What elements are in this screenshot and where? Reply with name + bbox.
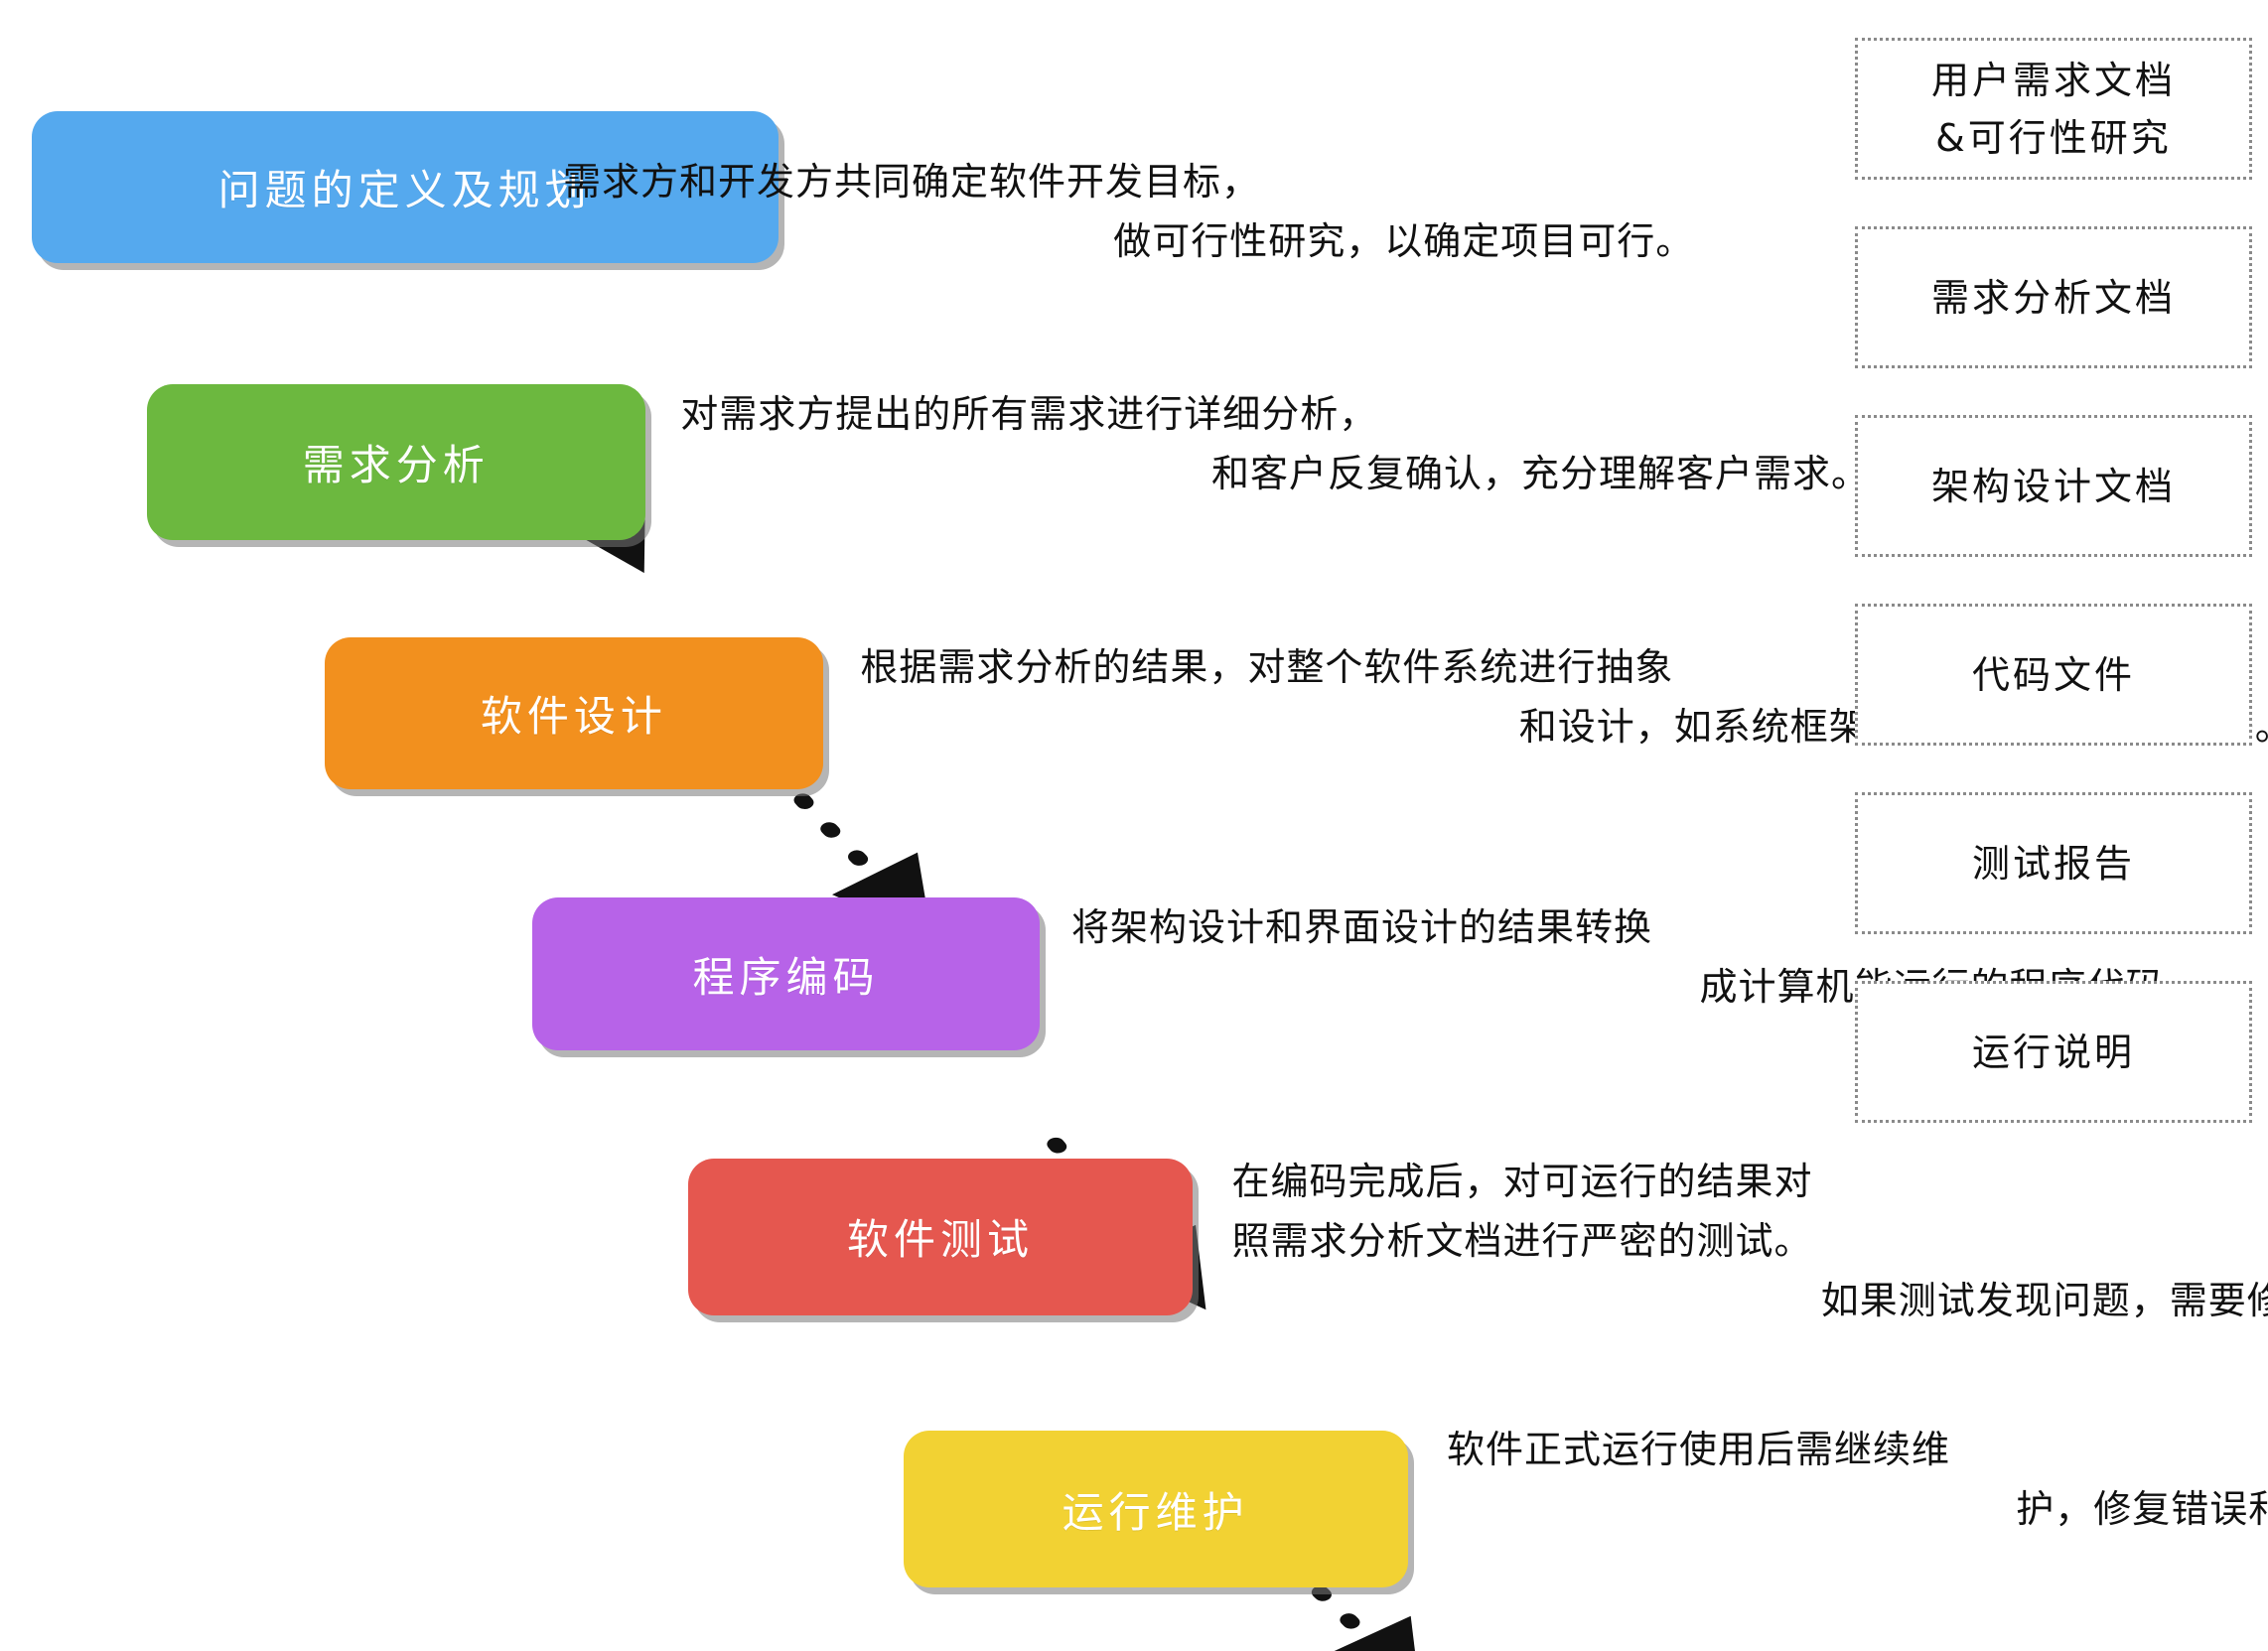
- stage-label: 程序编码: [693, 944, 880, 1005]
- artifact-box-user-requirements[interactable]: 用户需求文档 &可行性研究: [1855, 38, 2252, 180]
- stage-description-operation-maintenance: 软件正式运行使用后需继续维 护，修复错误和增加功能。 交付时需要提供使用说明文档…: [1447, 1420, 2268, 1598]
- stage-label: 需求分析: [303, 432, 490, 492]
- stage-label: 软件设计: [481, 683, 667, 744]
- artifact-line: 架构设计文档: [1931, 458, 2176, 515]
- connector-2-3: [779, 770, 904, 905]
- stage-description-software-testing: 在编码完成后，对可运行的结果对 照需求分析文档进行严密的测试。 如果测试发现问题…: [1231, 1152, 2268, 1330]
- artifact-line: 测试报告: [1972, 835, 2135, 893]
- stage-node-operation-maintenance[interactable]: 运行维护: [904, 1431, 1408, 1587]
- desc-line: 如果测试发现问题，需要修复。: [1231, 1271, 2268, 1330]
- stage-node-requirements-analysis[interactable]: 需求分析: [147, 384, 645, 541]
- stage-label: 运行维护: [1063, 1479, 1249, 1540]
- artifact-line: &可行性研究: [1935, 109, 2172, 167]
- stage-node-software-design[interactable]: 软件设计: [325, 637, 823, 789]
- artifact-line: 用户需求文档: [1931, 52, 2176, 109]
- artifact-box-architecture-doc[interactable]: 架构设计文档: [1855, 415, 2252, 557]
- desc-line: 在编码完成后，对可运行的结果对: [1231, 1152, 2268, 1211]
- desc-line: 交付时需要提供使用说明文档。: [1447, 1539, 2268, 1598]
- artifact-line: 运行说明: [1972, 1024, 2135, 1081]
- flowchart-canvas: 问题的定义及规划 需求方和开发方共同确定软件开发目标， 做可行性研究，以确定项目…: [0, 0, 2268, 1651]
- stage-label: 问题的定义及规划: [218, 157, 592, 217]
- desc-line: 软件正式运行使用后需继续维: [1447, 1420, 2268, 1479]
- stage-node-program-coding[interactable]: 程序编码: [532, 897, 1041, 1049]
- stage-node-software-testing[interactable]: 软件测试: [688, 1159, 1193, 1315]
- artifact-box-code-files[interactable]: 代码文件: [1855, 604, 2252, 746]
- artifact-box-operation-manual[interactable]: 运行说明: [1855, 981, 2252, 1123]
- artifact-line: 代码文件: [1972, 646, 2135, 704]
- artifact-box-requirements-doc[interactable]: 需求分析文档: [1855, 226, 2252, 368]
- artifact-line: 需求分析文档: [1931, 269, 2176, 327]
- desc-line: 护，修复错误和增加功能。: [1447, 1479, 2268, 1539]
- desc-line: 照需求分析文档进行严密的测试。: [1231, 1211, 2268, 1271]
- stage-label: 软件测试: [847, 1206, 1034, 1267]
- artifact-box-test-report[interactable]: 测试报告: [1855, 792, 2252, 934]
